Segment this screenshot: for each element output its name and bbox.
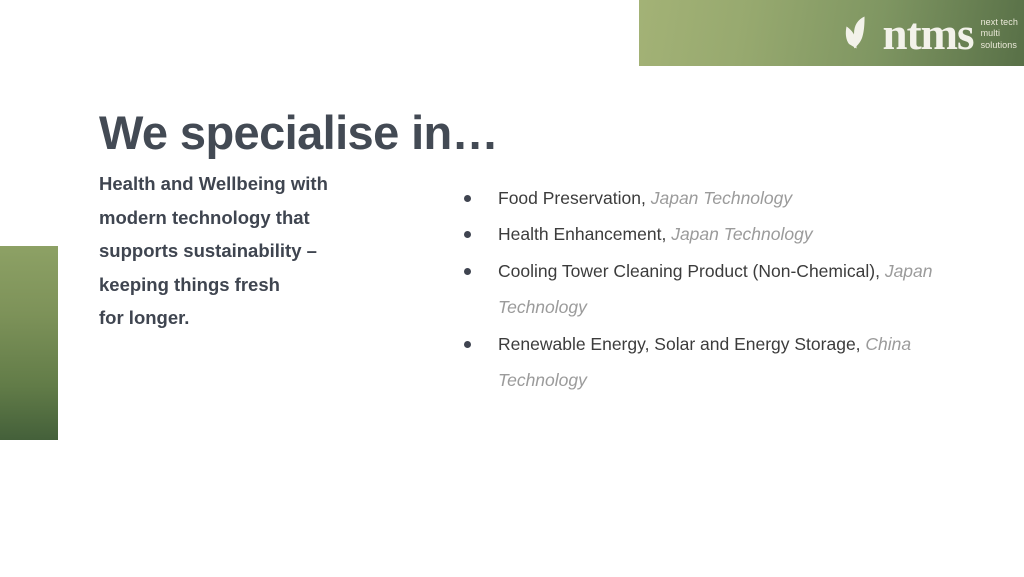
lead-paragraph-line: modern technology that bbox=[99, 201, 399, 235]
list-item: Renewable Energy, Solar and Energy Stora… bbox=[455, 326, 975, 399]
list-item-label: Health Enhancement, bbox=[498, 224, 666, 244]
brand-header-bar: ntms next tech multi solutions bbox=[639, 0, 1024, 66]
leaf-icon bbox=[844, 14, 880, 52]
bullet-dot-icon bbox=[464, 341, 471, 348]
bullet-dot-icon bbox=[464, 231, 471, 238]
lead-paragraph-line: keeping things fresh bbox=[99, 268, 399, 302]
logo-tagline: next tech multi solutions bbox=[981, 17, 1018, 52]
list-item: Health Enhancement, Japan Technology bbox=[455, 216, 975, 252]
lead-paragraph-line: supports sustainability – bbox=[99, 234, 399, 268]
tagline-line-1: next tech bbox=[981, 17, 1018, 29]
list-item: Cooling Tower Cleaning Product (Non-Chem… bbox=[455, 253, 975, 326]
lead-paragraph-line: Health and Wellbeing with bbox=[99, 167, 399, 201]
page-title: We specialise in… bbox=[99, 105, 498, 161]
bullet-dot-icon bbox=[464, 195, 471, 202]
ntms-logo: ntms next tech multi solutions bbox=[844, 8, 1018, 58]
left-accent-block bbox=[0, 246, 58, 440]
list-item-label: Cooling Tower Cleaning Product (Non-Chem… bbox=[498, 261, 880, 281]
lead-paragraph: Health and Wellbeing with modern technol… bbox=[99, 167, 399, 335]
list-item-label: Renewable Energy, Solar and Energy Stora… bbox=[498, 334, 861, 354]
bullet-dot-icon bbox=[464, 268, 471, 275]
list-item-label: Food Preservation, bbox=[498, 188, 646, 208]
lead-paragraph-line: for longer. bbox=[99, 301, 399, 335]
logo-wordmark: ntms bbox=[883, 14, 974, 54]
tagline-line-3: solutions bbox=[981, 40, 1018, 52]
slide-canvas: ntms next tech multi solutions We specia… bbox=[0, 0, 1024, 577]
list-item: Food Preservation, Japan Technology bbox=[455, 180, 975, 216]
tagline-line-2: multi bbox=[981, 28, 1018, 40]
list-item-tech-tag: Japan Technology bbox=[651, 188, 792, 208]
specialisation-list: Food Preservation, Japan Technology Heal… bbox=[455, 180, 975, 398]
list-item-tech-tag: Japan Technology bbox=[671, 224, 812, 244]
